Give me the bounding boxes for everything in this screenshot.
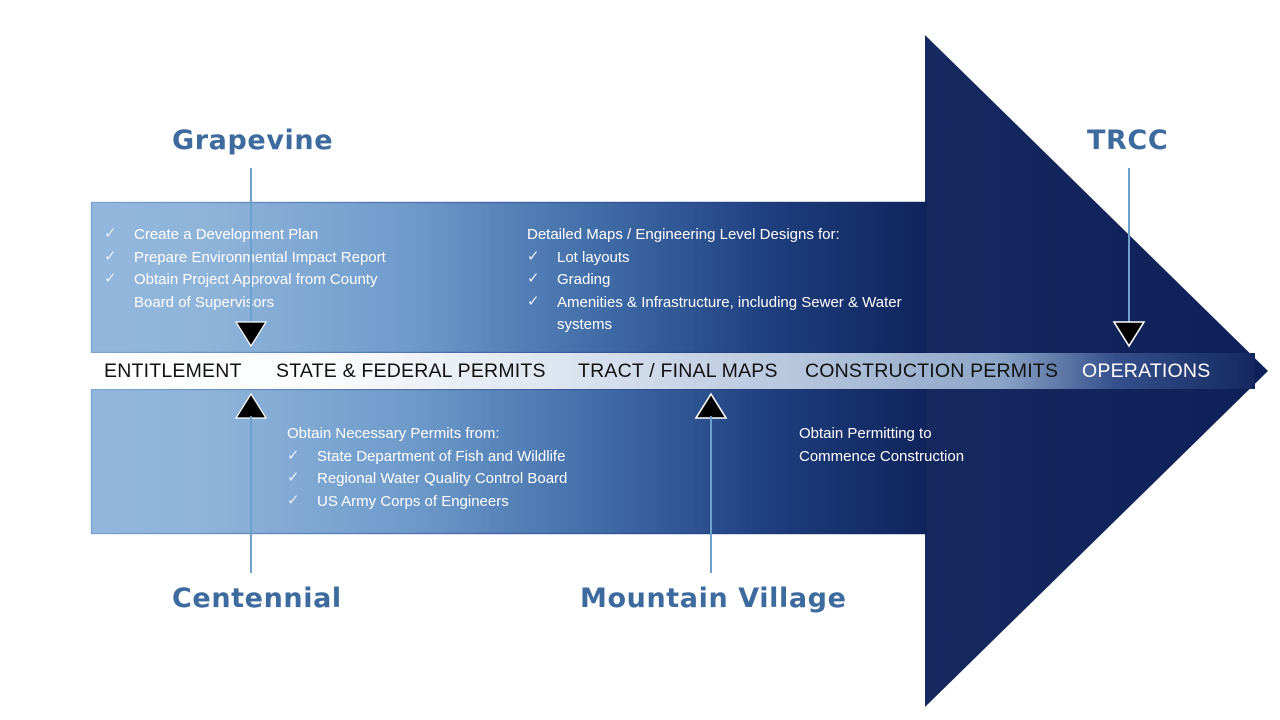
- list-item: ✓ Regional Water Quality Control Board: [287, 468, 707, 491]
- callout-label-mountain-village[interactable]: Mountain Village: [580, 583, 847, 614]
- callout-label-centennial[interactable]: Centennial: [172, 583, 342, 614]
- list-item-text: Lot layouts: [557, 249, 630, 266]
- list-item-text: Obtain Project Approval from County: [134, 271, 377, 288]
- callout-label-trcc[interactable]: TRCC: [1087, 125, 1168, 156]
- list-item: ✓ Amenities & Infrastructure, including …: [527, 292, 997, 337]
- detailed-maps-heading: Detailed Maps / Engineering Level Design…: [527, 224, 997, 247]
- construction-permitting-line-2: Commence Construction: [799, 446, 1039, 469]
- necessary-permits-heading: Obtain Necessary Permits from:: [287, 423, 707, 446]
- content-block-entitlement-tasks: ✓ Create a Development Plan ✓ Prepare En…: [104, 224, 504, 314]
- check-icon: ✓: [287, 467, 300, 490]
- list-item-text: US Army Corps of Engineers: [317, 493, 509, 510]
- connector-line-mountain-village: [710, 416, 712, 573]
- connector-line-centennial: [250, 416, 252, 573]
- detailed-maps-list: ✓ Lot layouts ✓ Grading ✓ Amenities & In…: [527, 247, 997, 337]
- list-item-continuation: systems: [557, 314, 997, 337]
- list-item-text: Create a Development Plan: [134, 226, 318, 243]
- necessary-permits-list: ✓ State Department of Fish and Wildlife …: [287, 446, 707, 514]
- check-icon: ✓: [527, 268, 540, 291]
- construction-permitting-line-1: Obtain Permitting to: [799, 423, 1039, 446]
- check-icon: ✓: [527, 246, 540, 269]
- stage-band-background: [91, 353, 1255, 389]
- content-block-construction-permitting: Obtain Permitting to Commence Constructi…: [799, 423, 1039, 468]
- list-item-text: Grading: [557, 271, 610, 288]
- pointer-marker-grapevine: [234, 320, 268, 348]
- list-item: ✓ State Department of Fish and Wildlife: [287, 446, 707, 469]
- list-item-continuation: Board of Supervisors: [134, 292, 504, 315]
- check-icon: ✓: [527, 291, 540, 314]
- list-item: ✓ US Army Corps of Engineers: [287, 491, 707, 514]
- check-icon: ✓: [287, 445, 300, 468]
- list-item-text: Prepare Environmental Impact Report: [134, 249, 386, 266]
- check-icon: ✓: [104, 246, 117, 269]
- list-item: ✓ Lot layouts: [527, 247, 997, 270]
- list-item-text: State Department of Fish and Wildlife: [317, 448, 565, 465]
- list-item-text: Amenities & Infrastructure, including Se…: [557, 294, 902, 311]
- entitlement-task-list: ✓ Create a Development Plan ✓ Prepare En…: [104, 224, 504, 314]
- list-item: ✓ Grading: [527, 269, 997, 292]
- list-item: ✓ Prepare Environmental Impact Report: [104, 247, 504, 270]
- callout-label-grapevine[interactable]: Grapevine: [172, 125, 333, 156]
- check-icon: ✓: [104, 268, 117, 291]
- connector-line-grapevine: [250, 168, 252, 325]
- connector-line-trcc: [1128, 168, 1130, 325]
- check-icon: ✓: [104, 223, 117, 246]
- content-block-necessary-permits: Obtain Necessary Permits from: ✓ State D…: [287, 423, 707, 513]
- diagram-canvas: ENTITLEMENT STATE & FEDERAL PERMITS TRAC…: [0, 0, 1280, 720]
- list-item: ✓ Obtain Project Approval from County Bo…: [104, 269, 504, 314]
- check-icon: ✓: [287, 490, 300, 513]
- list-item: ✓ Create a Development Plan: [104, 224, 504, 247]
- content-block-detailed-maps: Detailed Maps / Engineering Level Design…: [527, 224, 997, 337]
- list-item-text: Regional Water Quality Control Board: [317, 470, 567, 487]
- pointer-marker-trcc: [1112, 320, 1146, 348]
